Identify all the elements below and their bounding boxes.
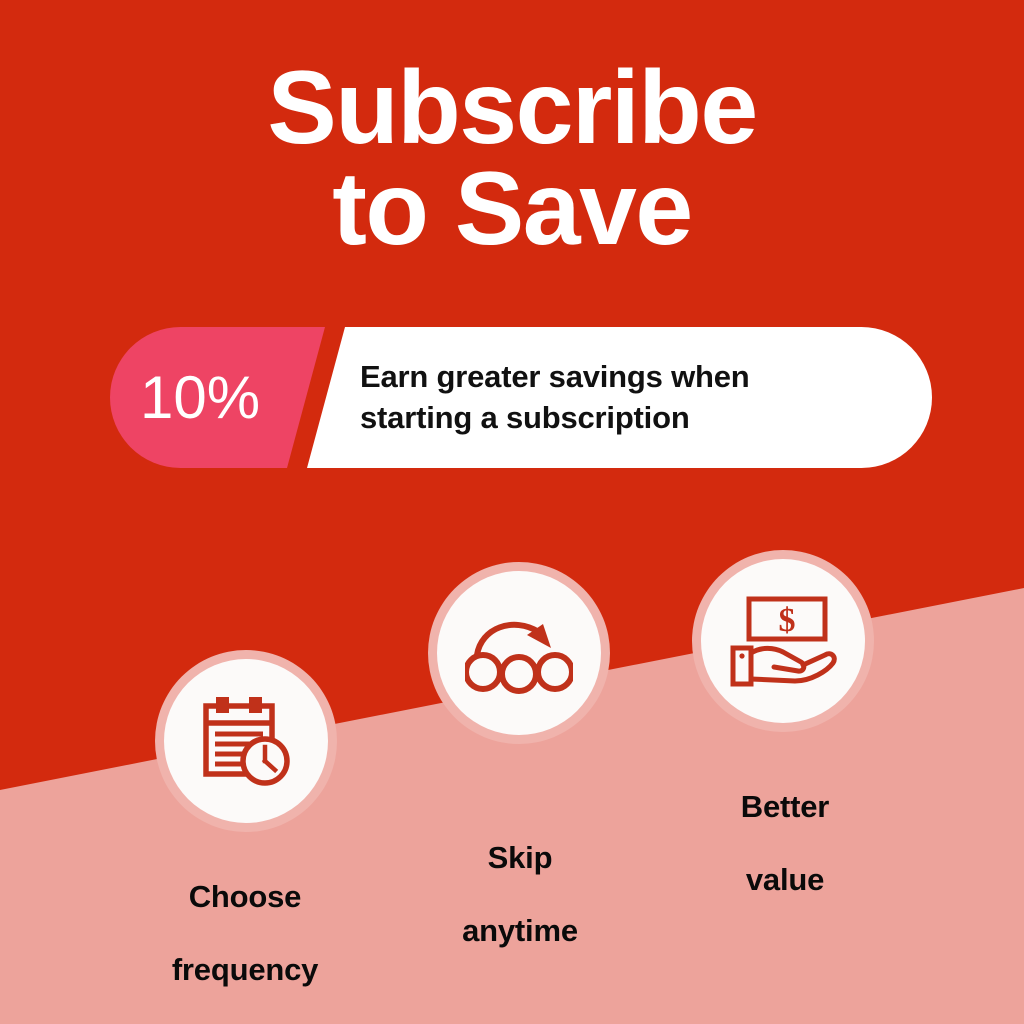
feature-skip-anytime bbox=[428, 562, 610, 744]
feature-label-choose-frequency: Choose frequency bbox=[120, 842, 370, 988]
feature-label-line-2: frequency bbox=[172, 952, 318, 987]
subscribe-to-save-poster: Subscribe to Save 10% Earn greater savin… bbox=[0, 0, 1024, 1024]
promo-text-line-1: Earn greater savings when bbox=[360, 357, 900, 398]
headline-line-1: Subscribe bbox=[0, 58, 1024, 159]
discount-percent: 10% bbox=[110, 327, 290, 468]
feature-label-line-2: value bbox=[746, 862, 824, 897]
promo-banner-text: Earn greater savings when starting a sub… bbox=[360, 327, 900, 468]
feature-label-line-2: anytime bbox=[462, 913, 578, 948]
feature-label-line-1: Choose bbox=[189, 879, 301, 914]
headline-line-2: to Save bbox=[0, 159, 1024, 260]
page-title: Subscribe to Save bbox=[0, 58, 1024, 260]
skip-arrow-icon bbox=[465, 608, 573, 698]
feature-label-better-value: Better value bbox=[665, 752, 905, 898]
feature-disc bbox=[164, 659, 328, 823]
feature-choose-frequency bbox=[155, 650, 337, 832]
feature-label-line-1: Skip bbox=[488, 840, 553, 875]
hand-holding-money-icon: $ bbox=[727, 593, 839, 689]
svg-text:$: $ bbox=[779, 602, 796, 639]
feature-better-value: $ bbox=[692, 550, 874, 732]
feature-disc bbox=[437, 571, 601, 735]
feature-label-skip-anytime: Skip anytime bbox=[400, 803, 640, 949]
calendar-clock-icon bbox=[194, 689, 298, 793]
promo-banner: 10% Earn greater savings when starting a… bbox=[110, 327, 932, 468]
promo-text-line-2: starting a subscription bbox=[360, 398, 900, 439]
feature-label-line-1: Better bbox=[741, 789, 829, 824]
feature-disc: $ bbox=[701, 559, 865, 723]
